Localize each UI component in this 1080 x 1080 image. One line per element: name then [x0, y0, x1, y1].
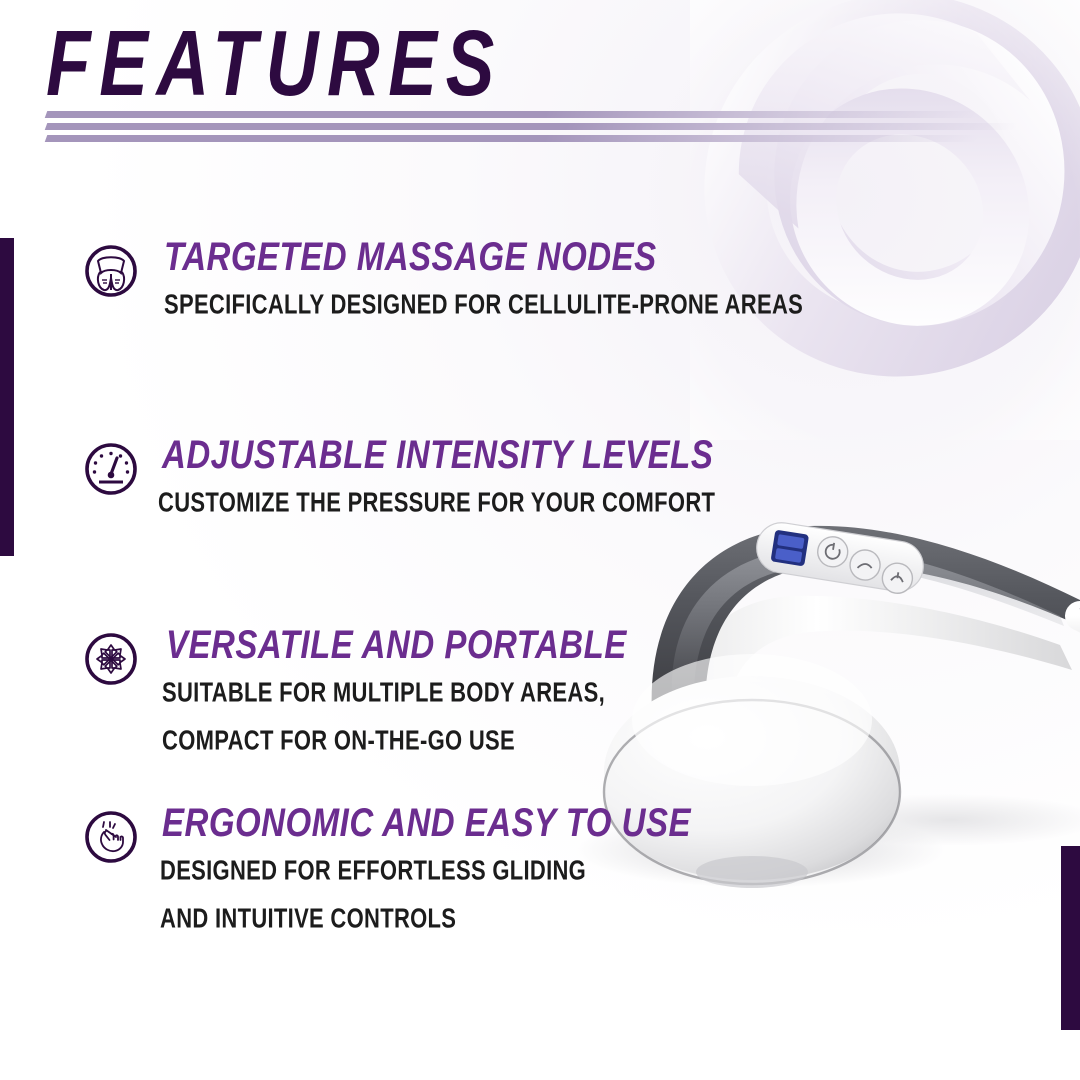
feature-subtitle: COMPACT FOR ON-THE-GO USE	[162, 727, 704, 755]
gauge-speedometer-icon	[84, 442, 138, 496]
feature-subtitle: CUSTOMIZE THE PRESSURE FOR YOUR COMFORT	[158, 489, 704, 517]
features-list: TARGETED MASSAGE NODES SPECIFICALLY DESI…	[84, 236, 704, 942]
page-title: FEATURES	[46, 18, 1006, 111]
title-rule-1	[45, 111, 1008, 118]
feature-heading: ADJUSTABLE INTENSITY LEVELS	[162, 434, 704, 474]
features-poster: FEATURES	[0, 0, 1080, 1080]
control-panel	[753, 519, 927, 595]
left-accent-bar	[0, 238, 14, 556]
hand-tap-icon	[84, 810, 138, 864]
feature-subtitle: AND INTUITIVE CONTROLS	[160, 905, 704, 933]
feature-subtitle: SUITABLE FOR MULTIPLE BODY AREAS,	[162, 679, 704, 707]
title-underline-rules	[46, 111, 1056, 147]
page-title-block: FEATURES	[46, 18, 1046, 94]
feature-subtitle: SPECIFICALLY DESIGNED FOR CELLULITE-PRON…	[164, 291, 704, 319]
feature-item: VERSATILE AND PORTABLE SUITABLE FOR MULT…	[84, 624, 704, 802]
feature-item: ERGONOMIC AND EASY TO USE DESIGNED FOR E…	[84, 802, 704, 942]
feature-subtitle: DESIGNED FOR EFFORTLESS GLIDING	[160, 857, 704, 885]
feature-heading: TARGETED MASSAGE NODES	[164, 236, 704, 276]
feature-item: TARGETED MASSAGE NODES SPECIFICALLY DESI…	[84, 236, 704, 434]
feature-heading: VERSATILE AND PORTABLE	[166, 624, 704, 664]
right-accent-bar	[1061, 846, 1080, 1030]
title-rule-3	[45, 135, 1008, 142]
title-rule-2	[45, 123, 1048, 130]
feature-heading: ERGONOMIC AND EASY TO USE	[162, 802, 704, 842]
multi-direction-arrows-icon	[84, 632, 138, 686]
feature-item: ADJUSTABLE INTENSITY LEVELS CUSTOMIZE TH…	[84, 434, 704, 624]
hips-body-icon	[84, 244, 138, 298]
